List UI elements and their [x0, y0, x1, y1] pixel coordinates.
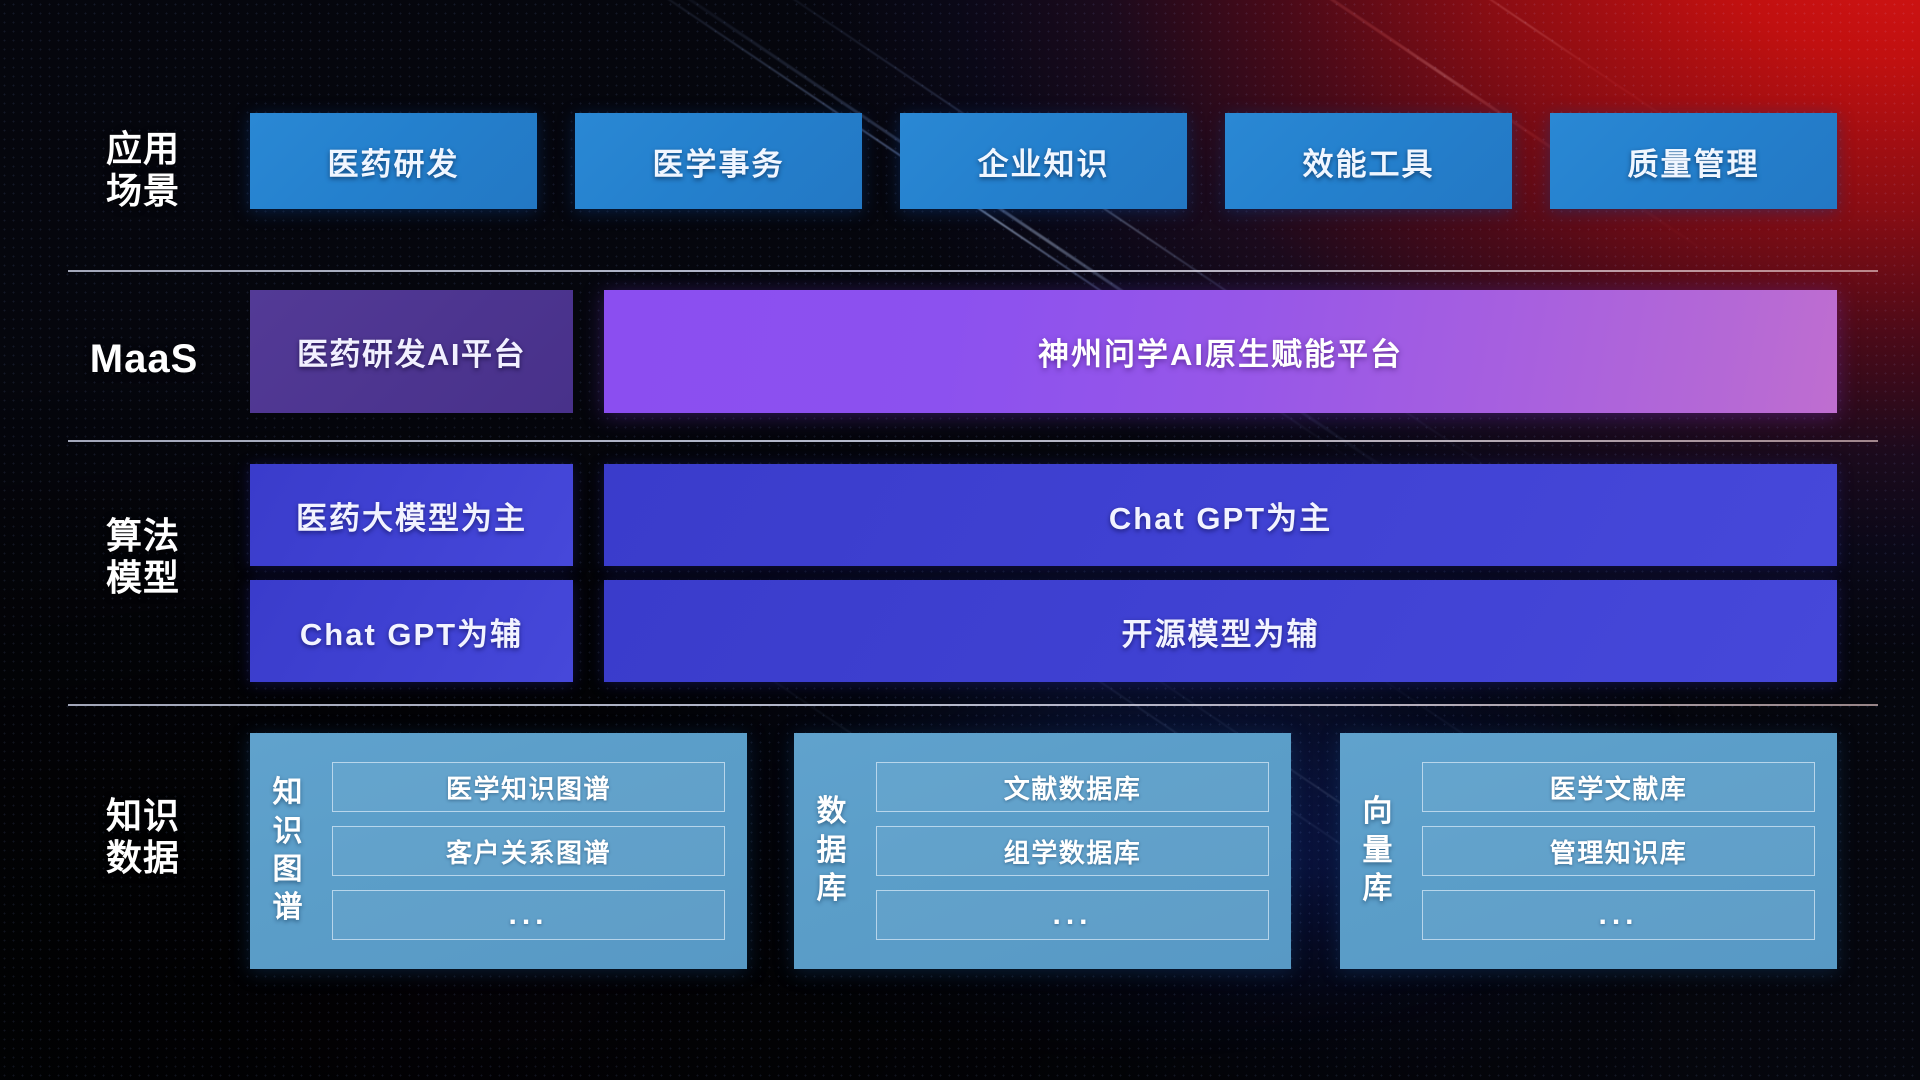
knowledge-panel-graph-label-char4: 谱 [273, 889, 304, 927]
algo-box-opensource-model-auxiliary[interactable]: 开源模型为辅 [604, 580, 1837, 682]
knowledge-item-management-knowledge-store[interactable]: 管理知识库 [1422, 826, 1815, 876]
knowledge-panel-graph-label-char2: 识 [273, 813, 304, 851]
layer-label-application: 应用 场景 [78, 128, 208, 212]
knowledge-panel-graph[interactable]: 知 识 图 谱 医学知识图谱 客户关系图谱 ... [250, 733, 747, 969]
knowledge-item-customer-relation-graph[interactable]: 客户关系图谱 [332, 826, 725, 876]
knowledge-panel-database-label: 数 据 库 [794, 793, 870, 908]
algo-box-chatgpt-auxiliary[interactable]: Chat GPT为辅 [250, 580, 573, 682]
layer-label-application-line2: 场景 [78, 170, 208, 212]
knowledge-panel-database-items: 文献数据库 组学数据库 ... [870, 744, 1291, 958]
knowledge-item-literature-database[interactable]: 文献数据库 [876, 762, 1269, 812]
knowledge-item-medical-knowledge-graph[interactable]: 医学知识图谱 [332, 762, 725, 812]
layer-label-knowledge: 知识 数据 [78, 795, 208, 879]
app-box-medical-affairs[interactable]: 医学事务 [575, 113, 862, 209]
knowledge-panel-graph-label-char1: 知 [273, 774, 304, 812]
knowledge-panel-database-label-char1: 数 [817, 793, 848, 831]
app-box-quality-management[interactable]: 质量管理 [1550, 113, 1837, 209]
layer-label-maas-line1: MaaS [70, 336, 218, 382]
knowledge-panel-vector-store-items: 医学文献库 管理知识库 ... [1416, 744, 1837, 958]
layer-label-algorithm-line2: 模型 [78, 557, 208, 599]
layer-label-application-line1: 应用 [78, 128, 208, 170]
knowledge-item-database-more[interactable]: ... [876, 890, 1269, 940]
layer-label-knowledge-line2: 数据 [78, 837, 208, 879]
knowledge-panel-vector-store-label: 向 量 库 [1340, 793, 1416, 908]
knowledge-item-omics-database[interactable]: 组学数据库 [876, 826, 1269, 876]
knowledge-panel-vector-store-label-char2: 量 [1363, 832, 1394, 870]
knowledge-panel-database-label-char3: 库 [817, 870, 848, 908]
app-box-medical-rd[interactable]: 医药研发 [250, 113, 537, 209]
maas-box-medical-rd-ai-platform[interactable]: 医药研发AI平台 [250, 290, 573, 413]
divider-algorithm-knowledge [68, 704, 1878, 706]
layer-label-maas: MaaS [70, 336, 218, 382]
knowledge-panel-graph-items: 医学知识图谱 客户关系图谱 ... [326, 744, 747, 958]
knowledge-panel-database-label-char2: 据 [817, 832, 848, 870]
knowledge-panel-vector-store[interactable]: 向 量 库 医学文献库 管理知识库 ... [1340, 733, 1837, 969]
maas-box-shenzhou-wenxue-platform[interactable]: 神州问学AI原生赋能平台 [604, 290, 1837, 413]
layer-label-algorithm: 算法 模型 [78, 515, 208, 599]
knowledge-item-graph-more[interactable]: ... [332, 890, 725, 940]
architecture-stack: 应用 场景 医药研发 医学事务 企业知识 效能工具 质量管理 MaaS 医药研发… [0, 0, 1920, 1080]
knowledge-panel-vector-store-label-char1: 向 [1363, 793, 1394, 831]
app-box-efficiency-tools[interactable]: 效能工具 [1225, 113, 1512, 209]
divider-maas-algorithm [68, 440, 1878, 442]
layer-label-knowledge-line1: 知识 [78, 795, 208, 837]
knowledge-panel-graph-label-char3: 图 [273, 851, 304, 889]
knowledge-item-vector-store-more[interactable]: ... [1422, 890, 1815, 940]
knowledge-panel-database[interactable]: 数 据 库 文献数据库 组学数据库 ... [794, 733, 1291, 969]
algo-box-chatgpt-primary[interactable]: Chat GPT为主 [604, 464, 1837, 566]
app-box-enterprise-knowledge[interactable]: 企业知识 [900, 113, 1187, 209]
layer-label-algorithm-line1: 算法 [78, 515, 208, 557]
knowledge-item-medical-literature-store[interactable]: 医学文献库 [1422, 762, 1815, 812]
knowledge-panel-graph-label: 知 识 图 谱 [250, 774, 326, 928]
knowledge-panel-vector-store-label-char3: 库 [1363, 870, 1394, 908]
divider-application-maas [68, 270, 1878, 272]
algo-box-medical-large-model-primary[interactable]: 医药大模型为主 [250, 464, 573, 566]
